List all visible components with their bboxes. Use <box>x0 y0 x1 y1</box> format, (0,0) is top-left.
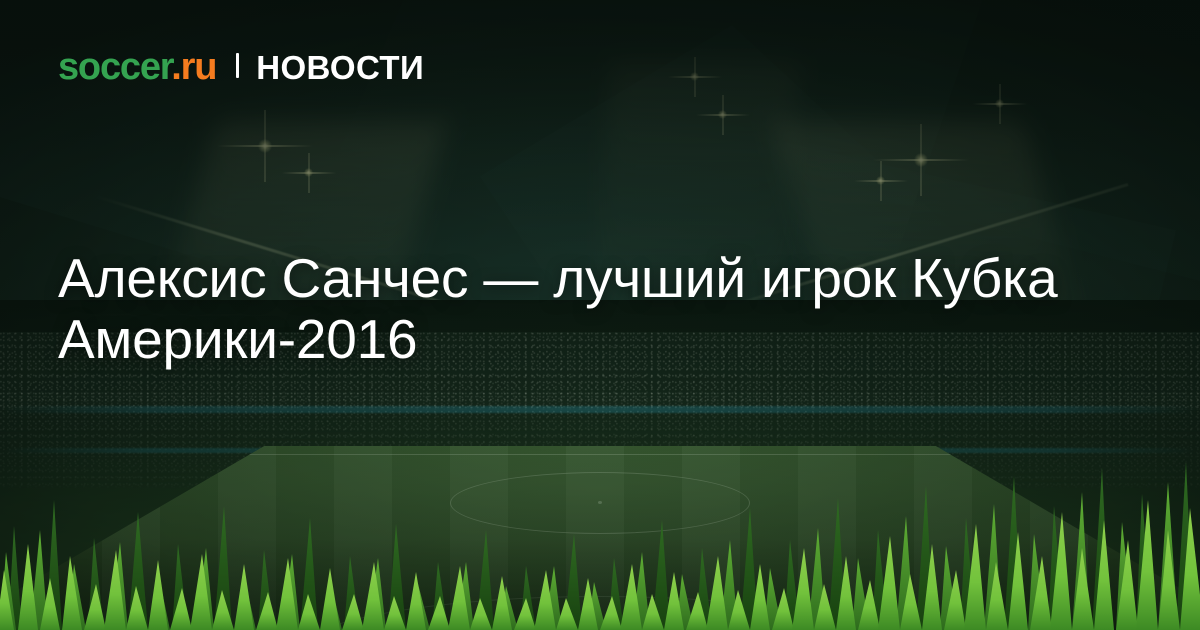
site-logo[interactable]: soccer.ru <box>58 48 216 86</box>
masthead-divider <box>236 53 239 78</box>
site-logo-name: soccer <box>58 46 171 88</box>
section-label-news[interactable]: НОВОСТИ <box>256 51 424 84</box>
site-masthead[interactable]: soccer.ru НОВОСТИ <box>58 48 424 86</box>
article-headline: Алексис Санчес — лучший игрок Кубка Амер… <box>58 248 1058 370</box>
site-logo-tld: .ru <box>171 46 216 88</box>
article-cover-banner: soccer.ru НОВОСТИ Алексис Санчес — лучши… <box>0 0 1200 630</box>
banner-content: soccer.ru НОВОСТИ Алексис Санчес — лучши… <box>0 0 1200 630</box>
